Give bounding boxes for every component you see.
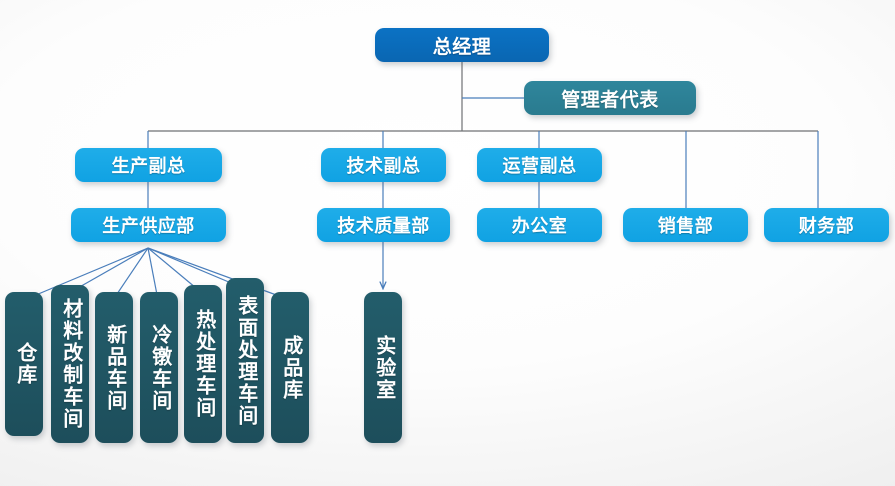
node-dept-finance[interactable]: 财务部: [764, 208, 889, 242]
node-dept-sales[interactable]: 销售部: [623, 208, 748, 242]
node-label: 技术副总: [347, 152, 421, 178]
node-label: 生产副总: [112, 152, 186, 178]
org-chart: 总经理 管理者代表 生产副总 技术副总 运营副总 生产供应部 技术质量部 办公室…: [0, 0, 895, 486]
node-vp-production[interactable]: 生产副总: [75, 148, 222, 182]
node-management-representative[interactable]: 管理者代表: [524, 81, 696, 115]
node-label: 运营副总: [503, 152, 577, 178]
node-workshop-new-product[interactable]: 新品车间: [95, 292, 133, 443]
node-label: 冷镦车间: [148, 324, 170, 412]
node-vp-technology[interactable]: 技术副总: [321, 148, 446, 182]
node-label: 实验室: [372, 335, 394, 401]
node-laboratory[interactable]: 实验室: [364, 292, 402, 443]
node-dept-office[interactable]: 办公室: [477, 208, 602, 242]
node-label: 材料改制车间: [59, 298, 81, 430]
node-general-manager[interactable]: 总经理: [375, 28, 549, 62]
node-label: 生产供应部: [102, 212, 195, 238]
node-label: 表面处理车间: [234, 295, 256, 427]
node-label: 财务部: [799, 212, 855, 238]
node-vp-operations[interactable]: 运营副总: [477, 148, 602, 182]
node-label: 仓库: [13, 342, 35, 386]
node-label: 热处理车间: [192, 309, 214, 419]
node-label: 管理者代表: [561, 85, 659, 112]
connector-lines: [0, 0, 895, 486]
node-workshop-material-reprocessing[interactable]: 材料改制车间: [51, 285, 89, 443]
node-dept-tech-quality[interactable]: 技术质量部: [317, 208, 450, 242]
node-workshop-cold-heading[interactable]: 冷镦车间: [140, 292, 178, 443]
node-workshop-finished-goods-warehouse[interactable]: 成品库: [271, 292, 309, 443]
node-label: 技术质量部: [337, 212, 430, 238]
node-workshop-heat-treatment[interactable]: 热处理车间: [184, 285, 222, 443]
node-label: 总经理: [433, 32, 492, 59]
node-label: 办公室: [512, 212, 568, 238]
node-label: 成品库: [279, 335, 301, 401]
node-workshop-warehouse[interactable]: 仓库: [5, 292, 43, 436]
node-label: 新品车间: [103, 324, 125, 412]
node-workshop-surface-treatment[interactable]: 表面处理车间: [226, 278, 264, 443]
node-label: 销售部: [658, 212, 714, 238]
node-dept-production-supply[interactable]: 生产供应部: [71, 208, 226, 242]
